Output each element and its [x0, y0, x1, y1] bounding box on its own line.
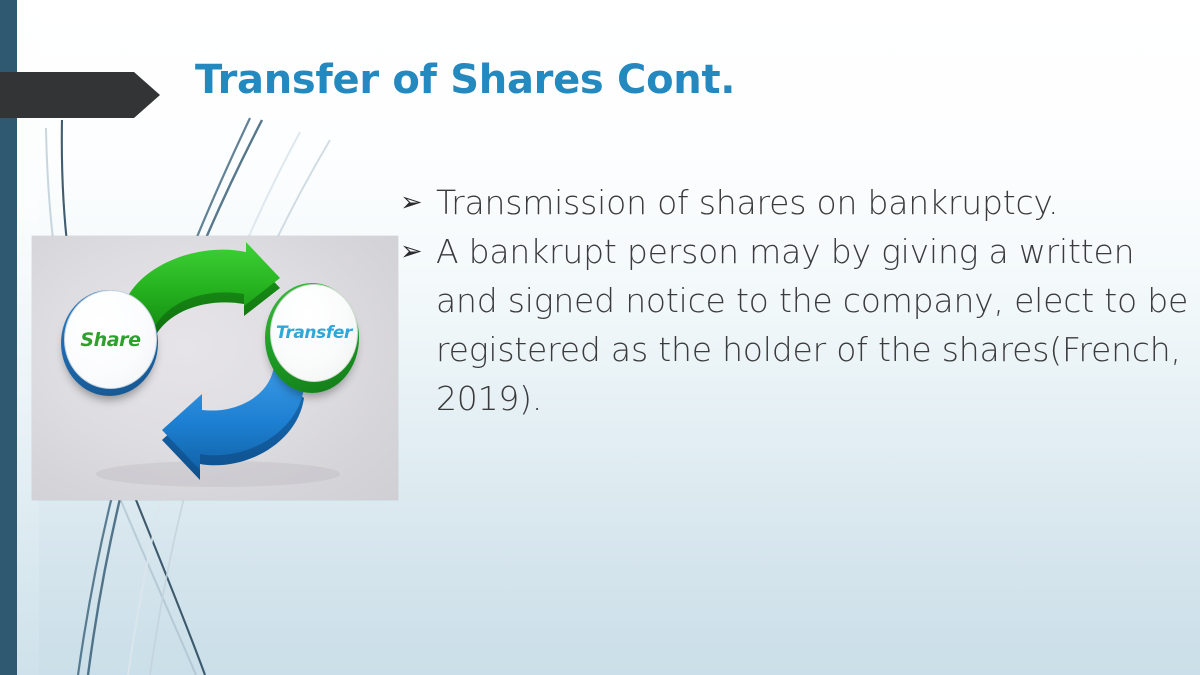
share-disc-label: Share [80, 329, 140, 351]
title-arrow-shape [0, 72, 160, 118]
body-content: ➢ Transmission of shares on bankruptcy. … [400, 178, 1190, 423]
transfer-disc-face: Transfer [270, 284, 358, 382]
share-disc-face: Share [64, 290, 157, 389]
page-title: Transfer of Shares Cont. [195, 57, 735, 103]
transfer-disc-label: Transfer [276, 323, 352, 343]
bullet-text-2: A bankrupt person may by giving a writte… [436, 227, 1190, 423]
share-transfer-image: Share Transfer [32, 236, 398, 500]
bullet-arrow-icon: ➢ [400, 227, 436, 276]
share-disc: Share [61, 290, 158, 396]
bullet-item-2: ➢ A bankrupt person may by giving a writ… [400, 227, 1190, 423]
slide-canvas: Transfer of Shares Cont. [0, 0, 1200, 675]
bullet-arrow-icon: ➢ [400, 178, 436, 227]
image-content: Share Transfer [32, 236, 398, 500]
bullet-item-1: ➢ Transmission of shares on bankruptcy. [400, 178, 1190, 227]
transfer-disc: Transfer [265, 283, 359, 393]
bullet-text-1: Transmission of shares on bankruptcy. [436, 178, 1190, 227]
